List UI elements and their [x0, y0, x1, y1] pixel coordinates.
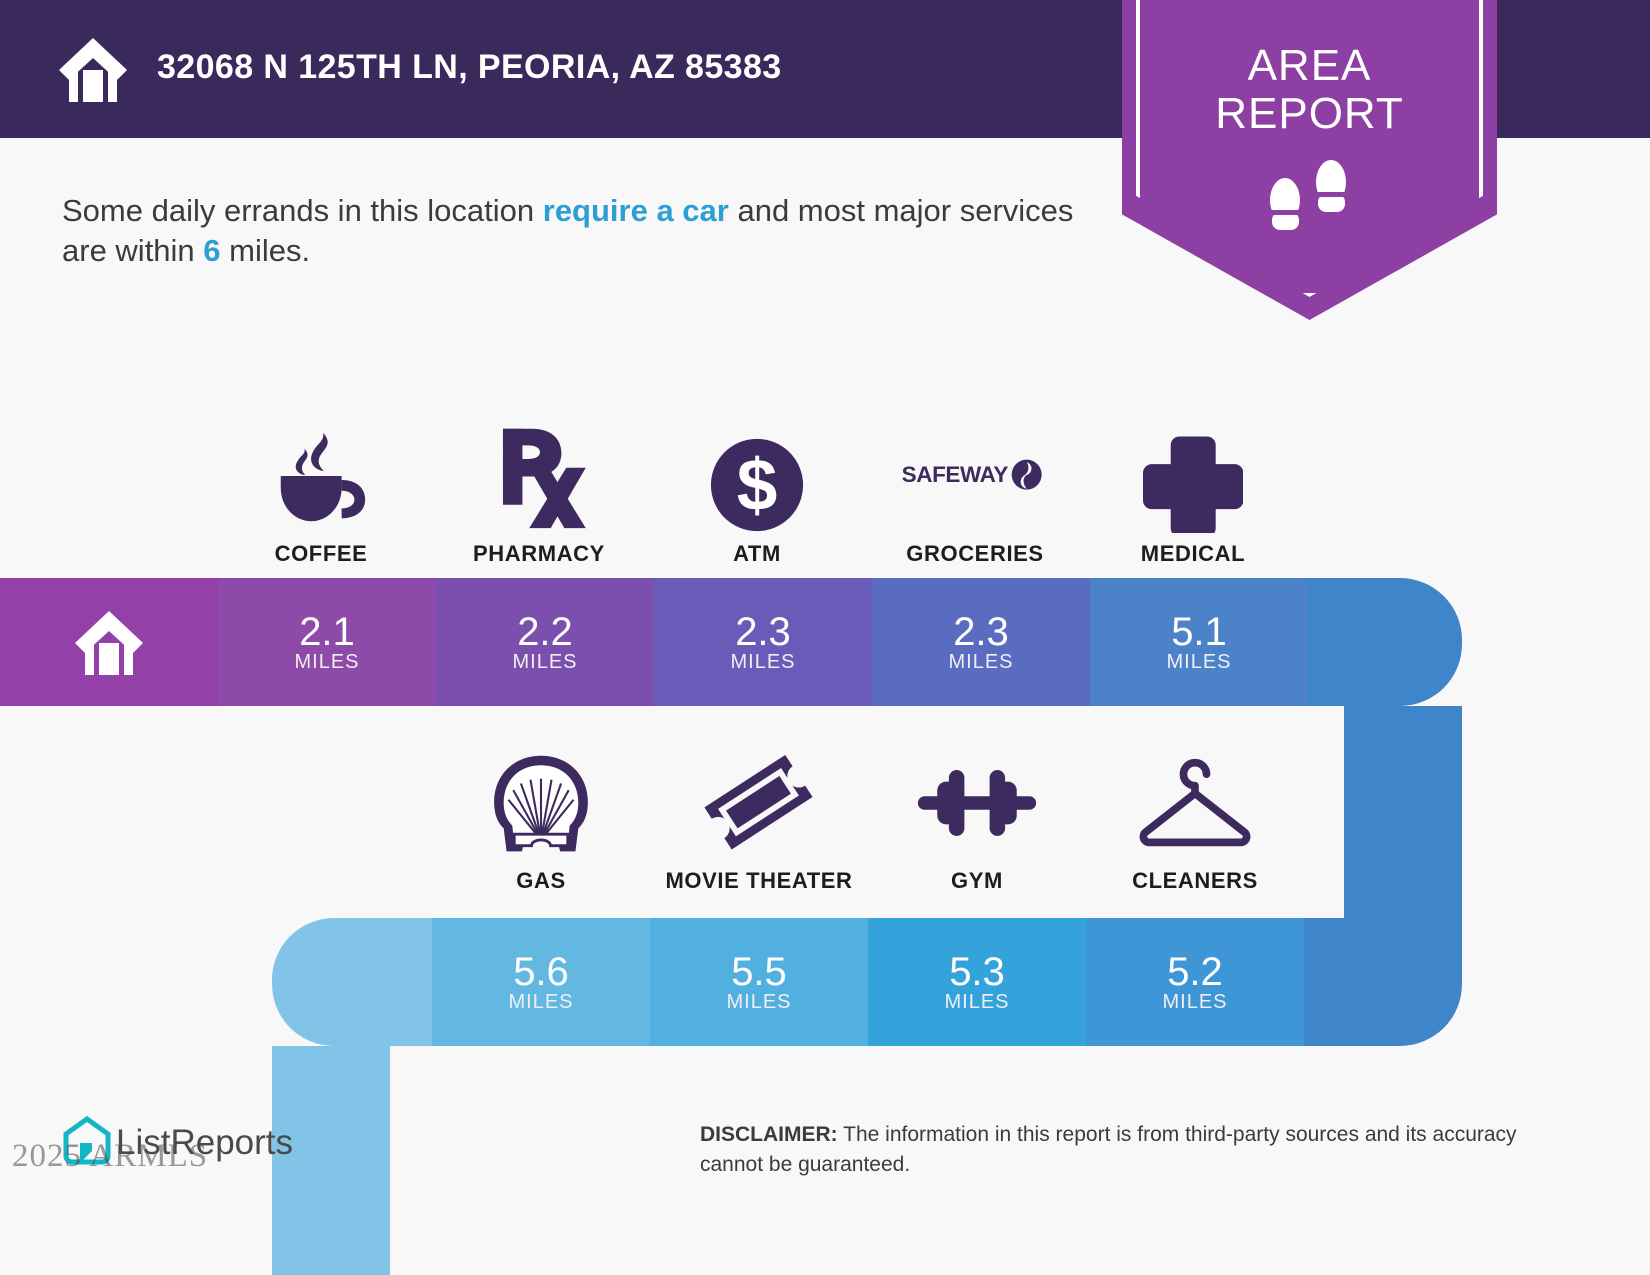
distance-value: 2.1 [299, 611, 355, 653]
row1-distance-bar: 2.1 MILES 2.2 MILES 2.3 MILES 2.3 MILES … [0, 578, 1462, 706]
distance-segment-pharmacy: 2.2 MILES [436, 578, 654, 706]
coffee-cup-icon [212, 418, 430, 533]
disclaimer: DISCLAIMER: The information in this repo… [700, 1120, 1520, 1180]
category-cleaners: CLEANERS [1086, 745, 1304, 894]
row2-icon-group: GAS MOVIE THEATER [432, 745, 1392, 905]
page-title: 32068 N 125TH LN, PEORIA, AZ 85383 [157, 48, 782, 87]
distance-segment-atm: 2.3 MILES [654, 578, 872, 706]
distance-value: 2.3 [735, 611, 791, 653]
distance-segment-movie-theater: 5.5 MILES [650, 918, 868, 1046]
bar2-lead [272, 918, 432, 1046]
category-label: GAS [432, 868, 650, 894]
distance-value: 5.3 [949, 951, 1005, 993]
bar1-tail [1308, 578, 1462, 706]
category-gym: GYM [868, 745, 1086, 894]
distance-value: 5.6 [513, 951, 569, 993]
category-label: GYM [868, 868, 1086, 894]
category-pharmacy: PHARMACY [430, 418, 648, 567]
category-atm: $ ATM [648, 418, 866, 567]
category-gas: GAS [432, 745, 650, 894]
distance-unit: MILES [1162, 991, 1227, 1014]
disclaimer-label: DISCLAIMER: [700, 1123, 838, 1146]
category-medical: MEDICAL [1084, 418, 1302, 567]
category-label: PHARMACY [430, 541, 648, 567]
badge-line-2: REPORT [1122, 90, 1497, 138]
category-movie-theater: MOVIE THEATER [650, 745, 868, 894]
category-label: CLEANERS [1086, 868, 1304, 894]
dollar-circle-icon: $ [648, 418, 866, 533]
category-groceries: SAFEWAY GROCERIES [866, 418, 1084, 567]
home-icon [57, 36, 129, 102]
svg-text:$: $ [737, 445, 778, 526]
distance-unit: MILES [726, 991, 791, 1014]
dumbbell-icon [868, 745, 1086, 860]
distance-value: 5.5 [731, 951, 787, 993]
distance-segment-cleaners: 5.2 MILES [1086, 918, 1304, 1046]
distance-unit: MILES [512, 651, 577, 674]
distance-segment-groceries: 2.3 MILES [872, 578, 1090, 706]
footprints-icon [1255, 160, 1365, 240]
medical-cross-icon [1084, 418, 1302, 533]
distance-segment-gym: 5.3 MILES [868, 918, 1086, 1046]
distance-unit: MILES [508, 991, 573, 1014]
bar2-tail-cap [390, 1046, 470, 1126]
home-segment [0, 578, 218, 706]
ticket-icon [650, 745, 868, 860]
distance-unit: MILES [944, 991, 1009, 1014]
distance-unit: MILES [1166, 651, 1231, 674]
safeway-logo-icon: SAFEWAY [866, 418, 1084, 533]
intro-highlight-car: require a car [543, 193, 729, 228]
distance-value: 2.3 [953, 611, 1009, 653]
category-coffee: COFFEE [212, 418, 430, 567]
clothes-hanger-icon [1086, 745, 1304, 860]
category-label: GROCERIES [866, 541, 1084, 567]
category-label: COFFEE [212, 541, 430, 567]
intro-text: Some daily errands in this location requ… [62, 191, 1082, 271]
distance-unit: MILES [730, 651, 795, 674]
category-label: MOVIE THEATER [650, 868, 868, 894]
distance-segment-medical: 5.1 MILES [1090, 578, 1308, 706]
distance-value: 5.2 [1167, 951, 1223, 993]
distance-value: 5.1 [1171, 611, 1227, 653]
distance-value: 2.2 [517, 611, 573, 653]
category-label: MEDICAL [1084, 541, 1302, 567]
category-label: ATM [648, 541, 866, 567]
distance-segment-gas: 5.6 MILES [432, 918, 650, 1046]
intro-highlight-miles: 6 [203, 233, 220, 268]
badge-line-1: AREA [1122, 42, 1497, 90]
row1-icon-group: COFFEE PHARMACY $ ATM SA [212, 418, 1392, 573]
distance-segment-coffee: 2.1 MILES [218, 578, 436, 706]
armls-watermark: 2025 ARMLS [12, 1138, 208, 1175]
intro-part-1: Some daily errands in this location [62, 193, 543, 228]
svg-text:SAFEWAY: SAFEWAY [902, 462, 1009, 487]
home-icon [71, 609, 147, 675]
distance-unit: MILES [294, 651, 359, 674]
intro-part-3: miles. [221, 233, 311, 268]
rx-icon [430, 418, 648, 533]
row2-distance-bar: 5.6 MILES 5.5 MILES 5.3 MILES 5.2 MILES [272, 918, 1462, 1046]
bar2-tail [1304, 918, 1462, 1046]
badge-title: AREA REPORT [1122, 42, 1497, 138]
distance-unit: MILES [948, 651, 1013, 674]
shell-logo-icon [432, 745, 650, 860]
